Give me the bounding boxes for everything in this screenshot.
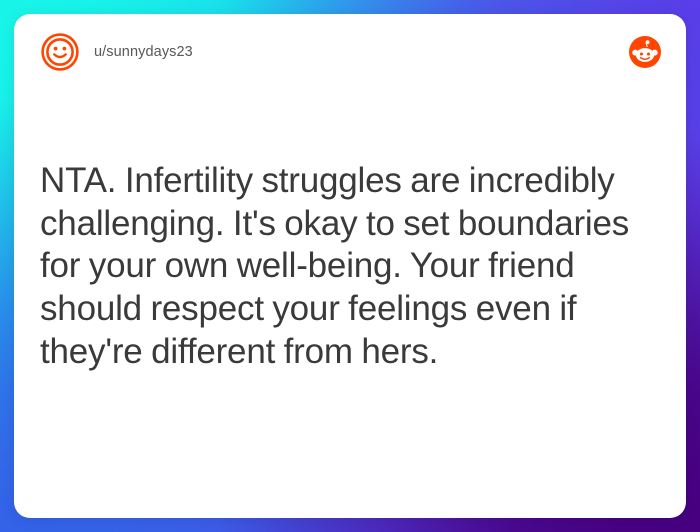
post-body-text: NTA. Infertility struggles are incredibl…	[40, 160, 660, 373]
post-author-username[interactable]: u/sunnydays23	[94, 44, 193, 60]
post-card-canvas: { "background": { "gradient_stops": ["#1…	[0, 0, 700, 532]
post-header: u/sunnydays23	[14, 14, 686, 90]
reddit-snoo-logo-icon[interactable]	[628, 35, 662, 69]
smiley-face-avatar-icon[interactable]	[40, 32, 80, 72]
reddit-post-card: u/sunnydays23 NTA. Infertility struggles…	[14, 14, 686, 518]
